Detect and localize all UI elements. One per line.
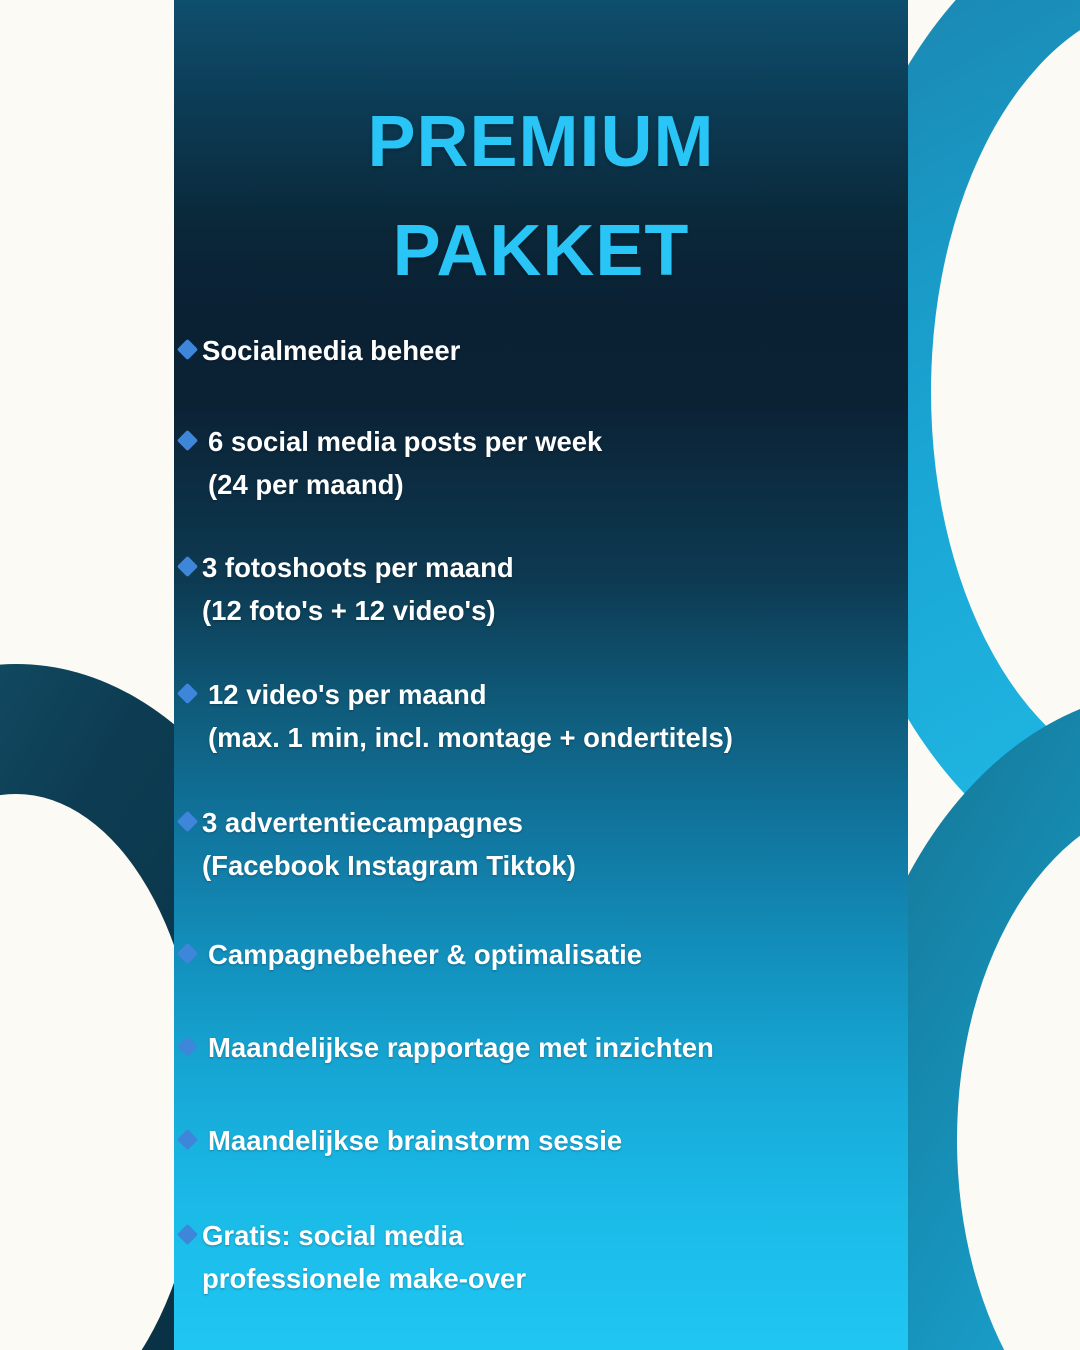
list-item: Campagnebeheer & optimalisatie <box>174 934 908 977</box>
diamond-bullet-icon <box>177 943 198 964</box>
list-item-label: 12 video's per maand (max. 1 min, incl. … <box>208 674 733 760</box>
list-item: Maandelijkse brainstorm sessie <box>174 1120 908 1163</box>
list-item: 12 video's per maand (max. 1 min, incl. … <box>174 674 908 760</box>
diamond-bullet-icon <box>177 811 198 832</box>
list-item: Maandelijkse rapportage met inzichten <box>174 1027 908 1070</box>
list-item-label: Campagnebeheer & optimalisatie <box>208 934 642 977</box>
poster-title: PREMIUM PAKKET <box>174 0 908 307</box>
list-item: 3 advertentiecampagnes (Facebook Instagr… <box>174 802 908 888</box>
list-item-label: Socialmedia beheer <box>202 330 460 373</box>
diamond-bullet-icon <box>177 430 198 451</box>
list-item: Gratis: social media professionele make-… <box>174 1215 908 1301</box>
diamond-bullet-icon <box>177 1224 198 1245</box>
list-item-label: Maandelijkse brainstorm sessie <box>208 1120 622 1163</box>
list-item-label: 3 advertentiecampagnes (Facebook Instagr… <box>202 802 576 888</box>
list-item-label: 6 social media posts per week (24 per ma… <box>208 421 602 507</box>
list-item: Socialmedia beheer <box>174 330 908 373</box>
diamond-bullet-icon <box>177 1036 198 1057</box>
diamond-bullet-icon <box>177 1129 198 1150</box>
title-line-2: PAKKET <box>174 197 908 306</box>
list-item-label: Maandelijkse rapportage met inzichten <box>208 1027 714 1070</box>
list-item: 3 fotoshoots per maand (12 foto's + 12 v… <box>174 547 908 633</box>
content-panel: PREMIUM PAKKET Socialmedia beheer 6 soci… <box>174 0 908 1350</box>
feature-list: Socialmedia beheer 6 social media posts … <box>174 330 908 1300</box>
list-item: 6 social media posts per week (24 per ma… <box>174 421 908 507</box>
diamond-bullet-icon <box>177 339 198 360</box>
diamond-bullet-icon <box>177 556 198 577</box>
title-line-1: PREMIUM <box>174 88 908 197</box>
list-item-label: Gratis: social media professionele make-… <box>202 1215 526 1301</box>
premium-package-poster: PREMIUM PAKKET Socialmedia beheer 6 soci… <box>0 0 1080 1350</box>
list-item-label: 3 fotoshoots per maand (12 foto's + 12 v… <box>202 547 514 633</box>
diamond-bullet-icon <box>177 683 198 704</box>
